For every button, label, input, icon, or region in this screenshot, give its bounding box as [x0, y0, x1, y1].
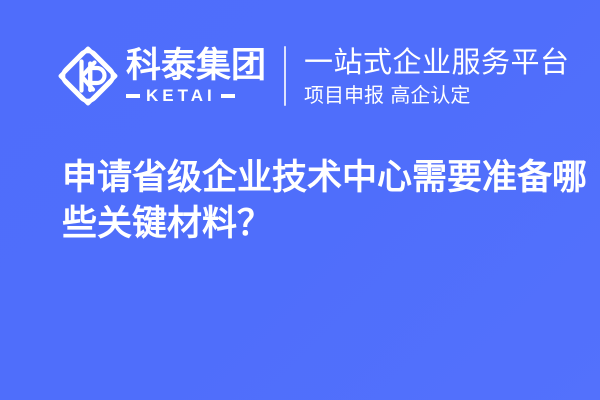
slogan-secondary: 项目申报 高企认定 [304, 83, 570, 107]
logo-latin-row: KETAI [126, 87, 266, 104]
promo-banner: 科泰集团 KETAI 一站式企业服务平台 项目申报 高企认定 申请省级企业技术中… [0, 0, 600, 400]
logo-wordmark: 科泰集团 KETAI [126, 45, 266, 107]
slogan-primary: 一站式企业服务平台 [304, 46, 570, 79]
headline-line-1: 申请省级企业技术中心需要准备哪 [62, 155, 562, 201]
brand-header: 科泰集团 KETAI 一站式企业服务平台 项目申报 高企认定 [57, 42, 570, 110]
brand-divider [284, 46, 286, 106]
company-logo[interactable]: 科泰集团 KETAI [57, 42, 266, 110]
ketai-kp-monogram-icon [57, 45, 119, 107]
logo-dash-left-icon [126, 94, 140, 98]
logo-company-name-latin: KETAI [146, 87, 216, 104]
logo-dash-right-icon [221, 94, 235, 98]
logo-company-name-cn: 科泰集团 [126, 48, 266, 84]
headline-line-2: 些关键材料？ [62, 201, 562, 247]
headline: 申请省级企业技术中心需要准备哪 些关键材料？ [62, 155, 562, 247]
slogan-block: 一站式企业服务平台 项目申报 高企认定 [304, 43, 570, 109]
